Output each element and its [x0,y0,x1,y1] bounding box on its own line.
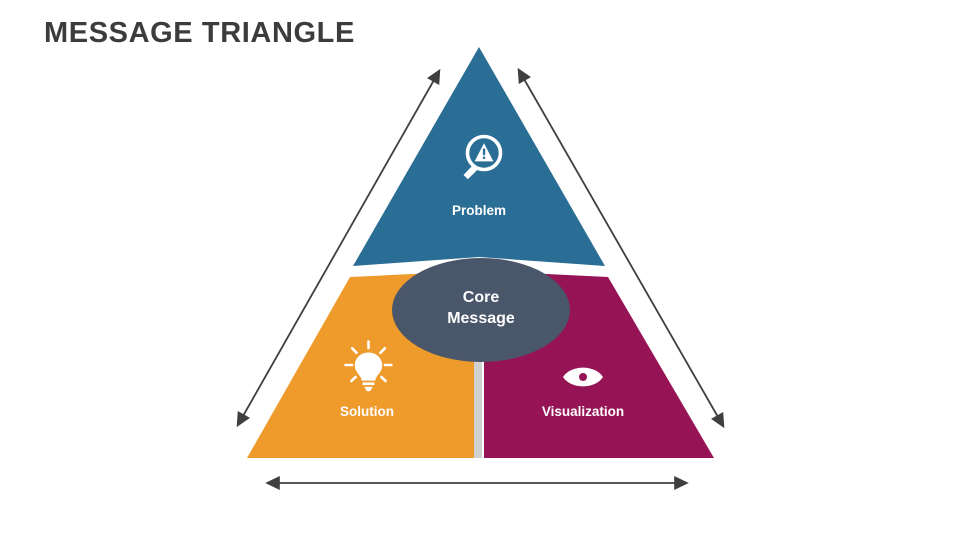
core-message-line2: Message [447,310,515,327]
message-triangle-diagram: Problem [0,0,960,540]
segment-problem-label: Problem [452,203,506,218]
triangle-segments: Problem [247,47,714,462]
segment-solution-label: Solution [340,404,394,419]
slide-canvas: MESSAGE TRIANGLE [0,0,960,540]
core-message-line1: Core [463,289,500,306]
core-message-node[interactable]: Core Message [392,258,570,362]
segment-visualization-label: Visualization [542,404,624,419]
